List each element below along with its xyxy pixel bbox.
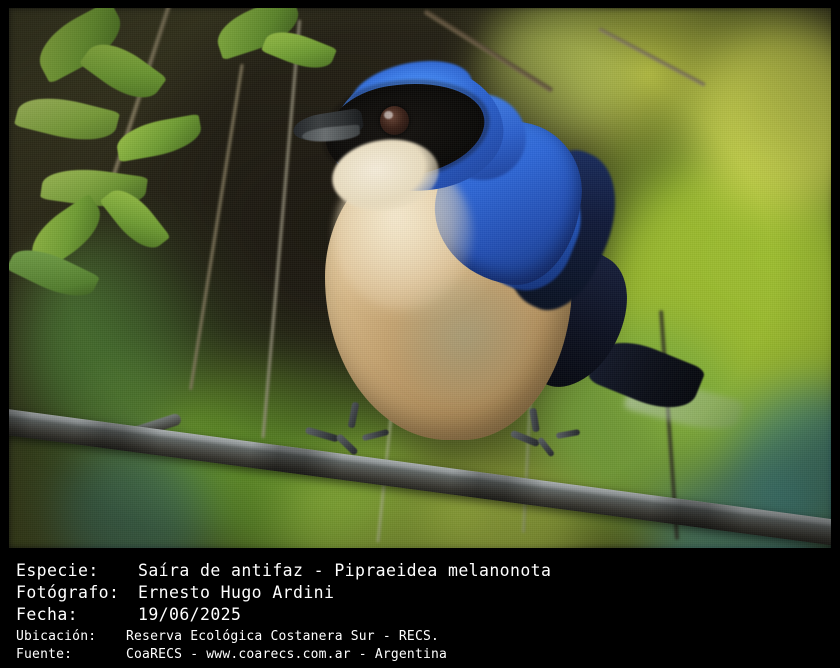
caption-label-ubicacion: Ubicación: bbox=[16, 629, 126, 644]
caption-row-fecha: Fecha:19/06/2025 bbox=[16, 605, 241, 624]
caption-label-fecha: Fecha: bbox=[16, 605, 138, 624]
bird-toe bbox=[537, 437, 555, 458]
caption-value-especie: Saíra de antifaz - Pipraeidea melanonota bbox=[138, 561, 551, 580]
photo-canvas bbox=[9, 8, 831, 548]
caption-value-fecha: 19/06/2025 bbox=[138, 605, 241, 624]
bird-toe bbox=[362, 429, 390, 441]
caption-value-fuente: CoaRECS - www.coarecs.com.ar - Argentina bbox=[126, 647, 447, 662]
bird-subject bbox=[9, 8, 831, 548]
caption-row-especie: Especie:Saíra de antifaz - Pipraeidea me… bbox=[16, 561, 551, 580]
caption-value-fotografo: Ernesto Hugo Ardini bbox=[138, 583, 334, 602]
bird-leg bbox=[348, 402, 360, 429]
caption-label-especie: Especie: bbox=[16, 561, 138, 580]
caption-label-fotografo: Fotógrafo: bbox=[16, 583, 138, 602]
caption-row-fuente: Fuente:CoaRECS - www.coarecs.com.ar - Ar… bbox=[16, 647, 447, 662]
caption-value-ubicacion: Reserva Ecológica Costanera Sur - RECS. bbox=[126, 629, 439, 644]
bird-toe bbox=[305, 426, 340, 442]
photo-card: Especie:Saíra de antifaz - Pipraeidea me… bbox=[0, 0, 840, 668]
caption-panel: Especie:Saíra de antifaz - Pipraeidea me… bbox=[0, 552, 840, 668]
bird-toe bbox=[555, 429, 580, 439]
caption-label-fuente: Fuente: bbox=[16, 647, 126, 662]
bird-leg bbox=[529, 407, 540, 432]
caption-row-ubicacion: Ubicación:Reserva Ecológica Costanera Su… bbox=[16, 629, 439, 644]
bird-toe bbox=[335, 433, 359, 456]
bird-photograph bbox=[9, 8, 831, 548]
caption-row-fotografo: Fotógrafo:Ernesto Hugo Ardini bbox=[16, 583, 334, 602]
